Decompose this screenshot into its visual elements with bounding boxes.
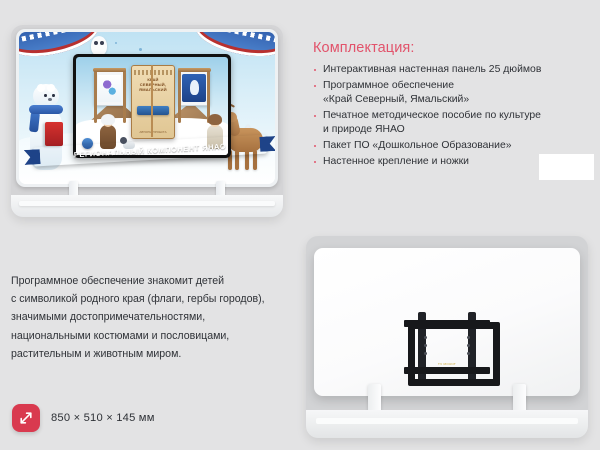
region-map-icon (98, 75, 121, 102)
blue-scarf (29, 105, 63, 114)
ribbon-label: Региональный компонент ЯНАО (74, 142, 227, 159)
wall-mount-bracket: TV MOUNT (404, 312, 490, 382)
dimensions-value: 850 × 510 × 145 мм (51, 412, 155, 424)
mount-panel-leg-right (513, 384, 526, 412)
panel-rear-surface: TV MOUNT (314, 248, 580, 396)
mount-desk-surface (306, 410, 588, 438)
package-contents-section: Комплектация: Интерактивная настенная па… (313, 40, 595, 170)
panel-bezel: КРАЙ СЕВЕРНЫЙ, ЯМАЛЬСКИЙ АВТОРЫ ПРОЕКТА (16, 29, 278, 187)
white-overlay-patch (539, 154, 594, 180)
description-paragraph: Программное обеспечение знакомит детей с… (11, 272, 311, 363)
red-book-icon (45, 122, 63, 146)
list-item: Интерактивная настенная панель 25 дюймов (313, 63, 595, 78)
desk-surface (11, 195, 283, 217)
snow-sparkle (115, 42, 117, 44)
list-item: Пакет ПО «Дошкольное Образование» (313, 139, 595, 154)
list-item: Печатное методическое пособие по культур… (313, 109, 595, 138)
list-item: Программное обеспечение «Край Северный, … (313, 79, 595, 108)
page-root: КРАЙ СЕВЕРНЫЙ, ЯМАЛЬСКИЙ АВТОРЫ ПРОЕКТА (0, 0, 600, 450)
snow-sparkle (139, 48, 142, 51)
product-image-card: КРАЙ СЕВЕРНЫЙ, ЯМАЛЬСКИЙ АВТОРЫ ПРОЕКТА (11, 25, 283, 217)
crest-banner[interactable] (179, 71, 210, 106)
mount-panel-leg-left (368, 384, 381, 412)
resize-diagonal-icon (12, 404, 40, 432)
snowy-owl-icon (91, 36, 107, 56)
coat-of-arms-icon (182, 74, 206, 102)
map-banner[interactable] (94, 71, 125, 106)
dimensions-badge: 850 × 510 × 145 мм (12, 404, 155, 432)
arctic-scene: КРАЙ СЕВЕРНЫЙ, ЯМАЛЬСКИЙ АВТОРЫ ПРОЕКТА (19, 32, 275, 184)
package-contents-title: Комплектация: (313, 40, 595, 56)
bracket-label: TV MOUNT (438, 362, 456, 366)
wall-mount-image-card: TV MOUNT (306, 236, 588, 438)
